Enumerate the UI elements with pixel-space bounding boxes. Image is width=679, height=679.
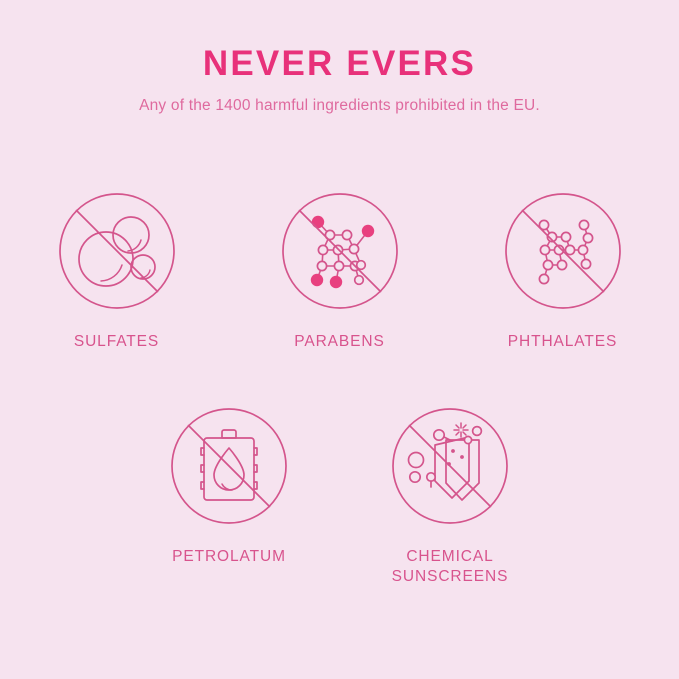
grid-row-bottom: PETROLATUM <box>0 407 679 587</box>
grid-item-label: SULFATES <box>74 332 159 352</box>
grid-item-parabens: PARABENS <box>266 192 414 352</box>
grid-item-petrolatum: PETROLATUM <box>155 407 303 567</box>
grid-item-phthalates: PHTHALATES <box>489 192 637 352</box>
grid-item-label: CHEMICAL SUNSCREENS <box>392 547 509 587</box>
no-parabens-icon <box>281 192 399 310</box>
no-sulfates-icon <box>58 192 176 310</box>
grid-item-chemical-sunscreens: CHEMICAL SUNSCREENS <box>376 407 524 587</box>
never-evers-infographic: NEVER EVERS Any of the 1400 harmful ingr… <box>0 0 679 679</box>
no-petrolatum-icon <box>170 407 288 525</box>
header: NEVER EVERS Any of the 1400 harmful ingr… <box>0 46 679 115</box>
grid-item-sulfates: SULFATES <box>43 192 191 352</box>
ingredient-grid: SULFATES <box>0 192 679 586</box>
no-chemical-sunscreens-icon <box>391 407 509 525</box>
grid-item-label: PHTHALATES <box>508 332 618 352</box>
page-subtitle: Any of the 1400 harmful ingredients proh… <box>0 97 679 116</box>
page-title: NEVER EVERS <box>0 46 679 83</box>
grid-row-top: SULFATES <box>0 192 679 352</box>
grid-item-label: PETROLATUM <box>172 547 286 567</box>
no-phthalates-icon <box>504 192 622 310</box>
grid-item-label: PARABENS <box>294 332 384 352</box>
